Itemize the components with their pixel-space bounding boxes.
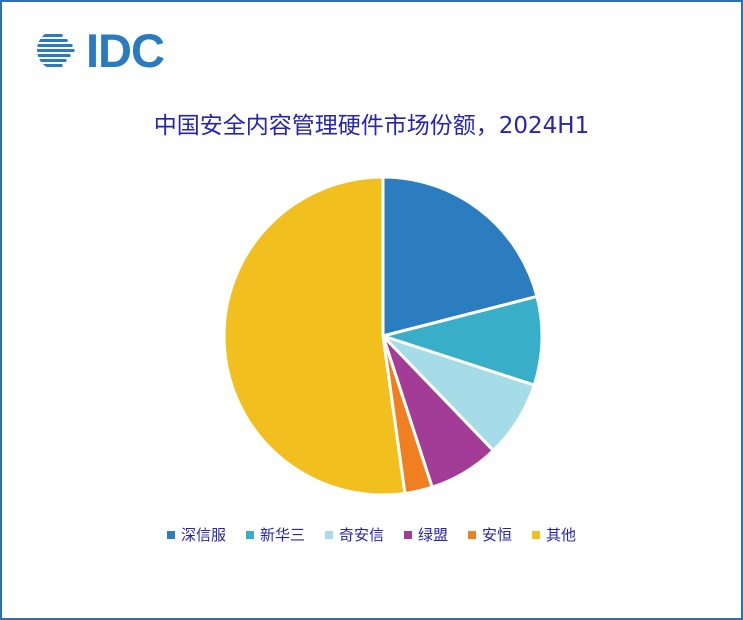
legend-item[interactable]: 新华三 xyxy=(246,526,305,544)
legend-swatch-icon xyxy=(532,531,540,539)
legend-label: 奇安信 xyxy=(339,526,384,544)
legend-label: 深信服 xyxy=(181,526,226,544)
pie-chart xyxy=(223,176,543,496)
idc-globe-icon xyxy=(34,27,80,73)
legend-swatch-icon xyxy=(167,531,175,539)
legend-item[interactable]: 奇安信 xyxy=(325,526,384,544)
slide-canvas: IDC 中国安全内容管理硬件市场份额，2024H1 深信服新华三奇安信绿盟安恒其… xyxy=(0,0,743,620)
legend-swatch-icon xyxy=(325,531,333,539)
legend-item[interactable]: 深信服 xyxy=(167,526,226,544)
pie-slice xyxy=(224,177,405,495)
chart-title: 中国安全内容管理硬件市场份额，2024H1 xyxy=(2,110,741,142)
legend-label: 其他 xyxy=(546,526,576,544)
legend-label: 新华三 xyxy=(260,526,305,544)
idc-logo: IDC xyxy=(34,24,164,76)
legend-item[interactable]: 安恒 xyxy=(468,526,512,544)
legend-label: 安恒 xyxy=(482,526,512,544)
legend-item[interactable]: 其他 xyxy=(532,526,576,544)
legend-item[interactable]: 绿盟 xyxy=(404,526,448,544)
chart-legend: 深信服新华三奇安信绿盟安恒其他 xyxy=(2,526,741,544)
legend-label: 绿盟 xyxy=(418,526,448,544)
legend-swatch-icon xyxy=(246,531,254,539)
idc-logo-text: IDC xyxy=(86,27,164,74)
legend-swatch-icon xyxy=(468,531,476,539)
pie-chart-svg xyxy=(223,176,543,496)
pie-slice-group xyxy=(224,177,542,495)
legend-swatch-icon xyxy=(404,531,412,539)
